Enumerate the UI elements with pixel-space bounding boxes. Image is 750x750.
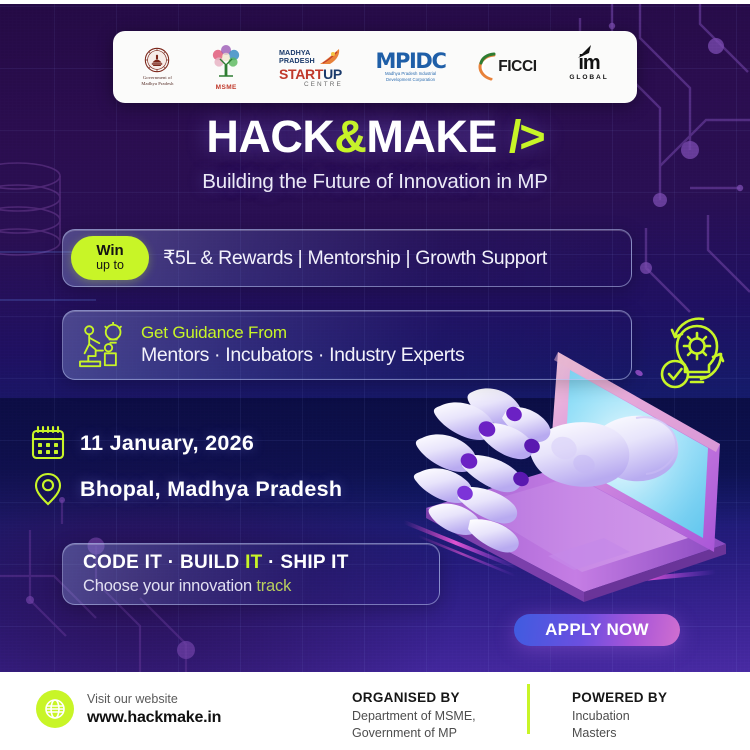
ficci-swirl-icon <box>478 52 498 82</box>
government-emblem-icon <box>144 47 170 73</box>
msme-caption: MSME <box>216 84 237 91</box>
footer-website-url[interactable]: www.hackmake.in <box>87 709 221 727</box>
title-ampersand: & <box>334 111 366 162</box>
apply-now-button[interactable]: APPLY NOW <box>514 614 680 646</box>
mpidc-sub-line2: Development Corporation <box>386 77 435 82</box>
mpidc-sub-line1: Madhya Pradesh Industrial <box>385 71 436 76</box>
idea-gear-bulb-check-icon <box>655 312 733 392</box>
poster-footer: Visit our website www.hackmake.in ORGANI… <box>0 672 750 750</box>
mpidc-word: MPIDC <box>376 52 446 70</box>
footer-visit-label: Visit our website <box>87 691 221 709</box>
powered-line2: Masters <box>572 725 667 742</box>
guidance-card: Get Guidance From Mentors · Incubators ·… <box>62 310 632 380</box>
event-date: 11 January, 2026 <box>80 431 254 456</box>
footer-divider <box>527 684 530 734</box>
event-location-row: Bhopal, Madhya Pradesh <box>30 470 342 508</box>
calendar-icon <box>30 424 66 462</box>
ficci-word: FICCI <box>498 58 536 76</box>
logo-msme: MSME <box>206 43 246 91</box>
location-pin-icon <box>30 470 66 508</box>
logo-mp-startup-centre: MADHYA PRADESH START UP CENTRE <box>279 47 343 88</box>
startup-word-start: START <box>279 67 323 81</box>
startup-line2: PRADESH <box>279 57 315 64</box>
track-head-lime: IT <box>245 552 263 573</box>
powered-line1: Incubation <box>572 708 667 725</box>
title-code-slash: /> <box>509 111 544 162</box>
title-part-make: MAKE <box>366 111 497 162</box>
win-badge-top: Win <box>96 243 123 258</box>
track-head-b: · SHIP IT <box>263 552 349 573</box>
poster-title: HACK&MAKE /> <box>0 114 750 159</box>
track-sub-a: Choose your innovation <box>83 577 256 595</box>
globe-icon <box>36 690 74 728</box>
im-sub: GLOBAL <box>569 74 608 81</box>
im-global-mark-icon <box>577 45 593 59</box>
guidance-heading: Get Guidance From <box>141 322 464 344</box>
startup-rocket-icon <box>317 47 343 67</box>
startup-word-up: UP <box>323 67 342 81</box>
title-part-hack: HACK <box>206 111 334 162</box>
track-card: CODE IT · BUILD IT · SHIP IT Choose your… <box>62 543 440 605</box>
poster-canvas: Government of Madhya Pradesh MSME <box>0 0 750 750</box>
gov-caption-line2: Madhya Pradesh <box>141 81 173 86</box>
win-badge: Win up to <box>71 236 149 280</box>
footer-organised-block: ORGANISED BY Department of MSME, Governm… <box>352 688 476 742</box>
logo-government-of-madhya-pradesh: Government of Madhya Pradesh <box>141 47 173 87</box>
event-date-row: 11 January, 2026 <box>30 424 254 462</box>
powered-heading: POWERED BY <box>572 688 667 708</box>
logo-ficci: FICCI <box>478 52 536 82</box>
footer-powered-block: POWERED BY Incubation Masters <box>572 688 667 742</box>
win-badge-bottom: up to <box>96 259 124 273</box>
guidance-subheading: Mentors · Incubators · Industry Experts <box>141 344 464 367</box>
track-head-a: CODE IT · BUILD <box>83 552 245 573</box>
poster-subtitle: Building the Future of Innovation in MP <box>0 170 750 194</box>
torn-paper-edge <box>0 0 750 4</box>
logo-im-global: im GLOBAL <box>569 54 608 81</box>
globe-glyph <box>43 697 67 721</box>
organised-line2: Government of MP <box>352 725 476 742</box>
logo-mpidc: MPIDC Madhya Pradesh Industrial Developm… <box>376 52 446 82</box>
track-sub-lime: track <box>256 577 291 595</box>
partner-logo-strip: Government of Madhya Pradesh MSME <box>113 31 637 103</box>
organised-line1: Department of MSME, <box>352 708 476 725</box>
organised-heading: ORGANISED BY <box>352 688 476 708</box>
event-location: Bhopal, Madhya Pradesh <box>80 477 342 502</box>
prize-text: ₹5L & Rewards | Mentorship | Growth Supp… <box>163 246 547 270</box>
footer-website-block: Visit our website www.hackmake.in <box>36 690 221 728</box>
msme-tree-icon <box>206 43 246 83</box>
prize-card: Win up to ₹5L & Rewards | Mentorship | G… <box>62 229 632 287</box>
gov-caption-line1: Government of <box>143 75 172 80</box>
mentorship-icon <box>77 322 129 368</box>
startup-line4: CENTRE <box>279 81 343 88</box>
